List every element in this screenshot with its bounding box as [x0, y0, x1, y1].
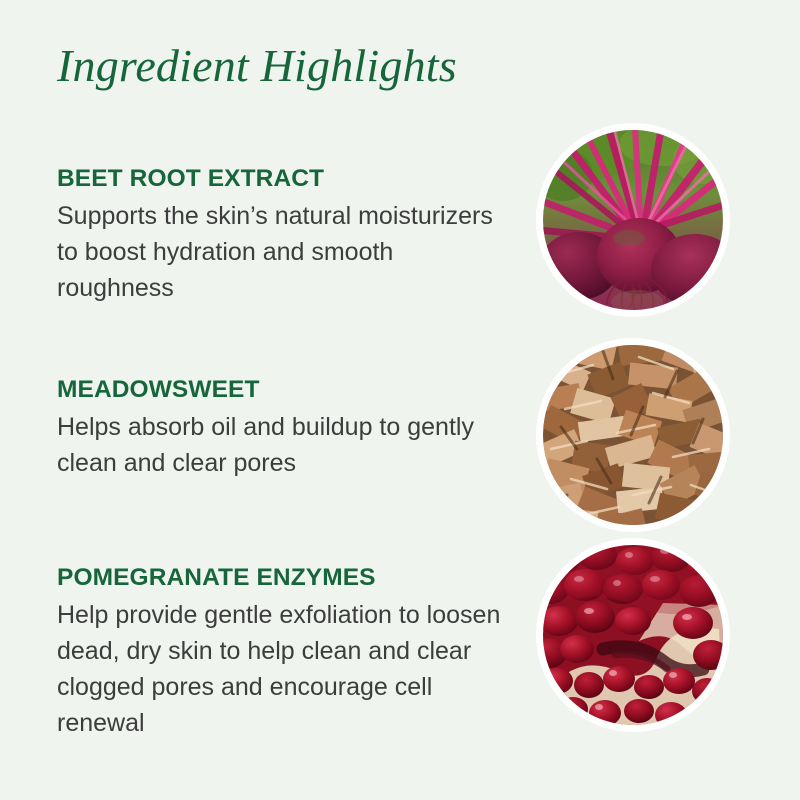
ingredient-photo-frame [543, 545, 723, 725]
ingredient-name: BEET ROOT EXTRACT [57, 164, 507, 194]
pomegranate-photo [543, 545, 723, 725]
ingredient-name: MEADOWSWEET [57, 375, 507, 405]
ingredient-text-block: BEET ROOT EXTRACT Supports the skin’s na… [57, 164, 507, 306]
ingredient-photo-frame [543, 345, 723, 525]
ingredient-highlights-page: Ingredient Highlights BEET ROOT EXTRACT … [0, 0, 800, 800]
ingredient-name: POMEGRANATE ENZYMES [57, 563, 507, 593]
ingredient-list: BEET ROOT EXTRACT Supports the skin’s na… [0, 0, 800, 800]
beet-root-photo [543, 130, 723, 310]
ingredient-description: Helps absorb oil and buildup to gently c… [57, 409, 507, 481]
ingredient-description: Help provide gentle exfoliation to loose… [57, 597, 507, 741]
ingredient-photo-frame [543, 130, 723, 310]
ingredient-text-block: MEADOWSWEET Helps absorb oil and buildup… [57, 375, 507, 481]
ingredient-text-block: POMEGRANATE ENZYMES Help provide gentle … [57, 563, 507, 741]
meadowsweet-bark-photo [543, 345, 723, 525]
ingredient-description: Supports the skin’s natural moisturizers… [57, 198, 507, 306]
